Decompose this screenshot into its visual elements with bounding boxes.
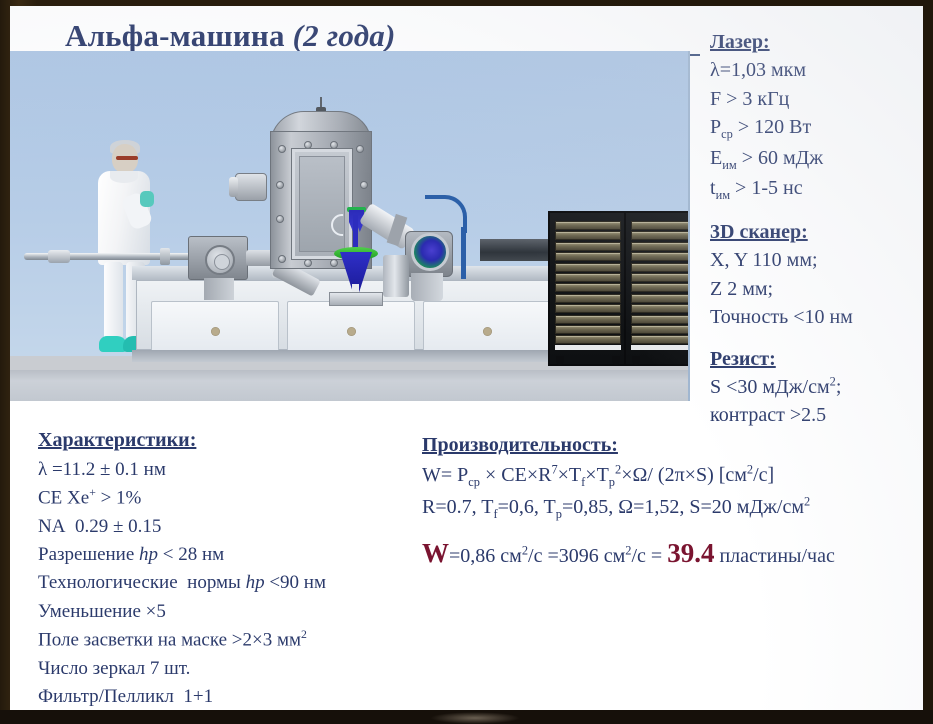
characteristics-row: Число зеркал 7 шт.	[38, 655, 418, 683]
transfer-rod-knob	[48, 250, 70, 263]
page-title: Альфа-машина (2 года)	[65, 18, 715, 54]
projector-frame: Альфа-машина (2 года)	[0, 0, 933, 724]
rack-shelf	[631, 273, 690, 282]
rack-shelf	[631, 304, 690, 313]
rack-shelf	[631, 263, 690, 272]
chamber-bolt	[356, 145, 364, 153]
chamber-bolt	[330, 141, 338, 149]
rack-caster	[632, 356, 640, 365]
render-floor	[10, 370, 688, 401]
characteristics-section: Характеристики: λ =11.2 ± 0.1 нм CE Xe+ …	[38, 426, 418, 710]
rack-shelf	[631, 335, 690, 344]
chamber-bolt	[360, 181, 368, 189]
bench-panel-knob	[211, 327, 220, 336]
characteristics-row: λ =11.2 ± 0.1 нм	[38, 456, 418, 484]
laser-spec-row: F > 3 кГц	[710, 85, 923, 113]
collector-lens	[411, 233, 449, 271]
characteristics-heading: Характеристики:	[38, 426, 418, 456]
rack-shelf	[631, 294, 690, 303]
rack-bottom-plate	[631, 345, 690, 350]
performance-section: Производительность: W= Pср × CE×R7×Tf×Tp…	[422, 430, 922, 574]
rack-caster	[612, 356, 620, 365]
rack-shelf	[631, 242, 690, 251]
rack-caster	[556, 356, 564, 365]
rack-shelf	[555, 252, 621, 261]
characteristics-row: Поле засветки на маске >2×3 мм2	[38, 626, 418, 655]
bench-panel-knob	[347, 327, 356, 336]
rack-bottom-plate	[555, 345, 621, 350]
wafer-stage	[329, 292, 383, 306]
collector-cylinder	[383, 255, 409, 297]
optics-collector-assembly	[365, 193, 485, 288]
laser-spec-row: Eим > 60 мДж	[710, 144, 923, 175]
collector-stand	[411, 273, 443, 301]
rack-shelf	[555, 231, 621, 240]
technician-collar	[110, 171, 138, 183]
rack-shelf	[555, 325, 621, 334]
resist-spec-row: S <30 мДж/см2;	[710, 373, 923, 401]
result-w-symbol: W	[422, 538, 449, 568]
resist-spec-group: Резист: S <30 мДж/см2; контраст >2.5	[710, 345, 923, 430]
resist-heading: Резист:	[710, 345, 776, 373]
specs-column: Лазер: λ=1,03 мкм F > 3 кГц Pср > 120 Вт…	[710, 28, 923, 443]
chamber-side-flange-rim	[229, 177, 238, 197]
performance-result: W=0,86 см2/с =3096 см2/с = 39.4 пластины…	[422, 533, 922, 574]
characteristics-row: Уменьшение ×5	[38, 598, 418, 626]
rack-shelf	[555, 283, 621, 292]
laser-heading: Лазер:	[710, 28, 770, 56]
chamber-bolt	[276, 181, 284, 189]
slide-canvas: Альфа-машина (2 года)	[10, 6, 923, 710]
valve-port-ring	[205, 245, 235, 275]
rack-shelf	[555, 273, 621, 282]
scanner-spec-row: Точность <10 нм	[710, 303, 923, 331]
performance-heading: Производительность:	[422, 430, 922, 460]
collector-cable-drop	[461, 227, 466, 279]
rack-shelf	[555, 242, 621, 251]
chamber-bolt	[276, 215, 284, 223]
chamber-viewport	[292, 149, 352, 259]
characteristics-row: Фильтр/Пелликл 1+1	[38, 683, 418, 710]
result-intermediate: =0,86 см2/с =3096 см2/с =	[449, 545, 667, 567]
result-throughput-unit: пластины/час	[719, 545, 834, 567]
valve-housing	[188, 236, 248, 280]
rack-shelf	[555, 294, 621, 303]
scanner-heading: 3D сканер:	[710, 218, 808, 246]
chamber-bolt	[278, 145, 286, 153]
electronics-rack	[548, 211, 626, 366]
gate-valve-assembly	[188, 236, 268, 300]
scanner-spec-group: 3D сканер: X, Y 110 мм; Z 2 мм; Точность…	[710, 218, 923, 332]
laser-spec-row: tим > 1-5 нс	[710, 174, 923, 205]
rack-shelf	[631, 221, 690, 230]
resist-spec-row: контраст >2.5	[710, 401, 923, 429]
performance-parameters: R=0.7, Tf=0,6, Tp=0,85, Ω=1,52, S=20 мДж…	[422, 492, 922, 524]
projector-bottom-band	[0, 710, 933, 724]
rack-shelf	[631, 325, 690, 334]
chamber-bolt	[304, 259, 312, 267]
vacuum-chamber	[262, 111, 380, 269]
title-years-text: (2 года)	[293, 18, 396, 53]
bench-panel-knob	[483, 327, 492, 336]
rack-shelf	[631, 315, 690, 324]
laser-spec-group: Лазер: λ=1,03 мкм F > 3 кГц Pср > 120 Вт…	[710, 28, 923, 205]
characteristics-row: Технологические нормы hp <90 нм	[38, 569, 418, 597]
chamber-bolt	[304, 141, 312, 149]
result-throughput-value: 39.4	[667, 538, 714, 568]
laser-spec-row: λ=1,03 мкм	[710, 56, 923, 84]
alpha-machine-render-image	[10, 51, 690, 401]
scanner-spec-row: Z 2 мм;	[710, 275, 923, 303]
rack-shelf	[555, 304, 621, 313]
rack-shelf	[555, 263, 621, 272]
characteristics-row: CE Xe+ > 1%	[38, 484, 418, 513]
technician-leg-left	[104, 262, 123, 340]
characteristics-row: NA 0.29 ± 0.15	[38, 513, 418, 541]
chamber-bolt	[278, 255, 286, 263]
rack-shelf	[631, 283, 690, 292]
rack-shelf	[631, 252, 690, 261]
bench-base	[132, 350, 570, 362]
technician-glasses	[116, 156, 138, 160]
chamber-bolt	[330, 259, 338, 267]
rack-caster	[688, 356, 690, 365]
rack-shelf	[555, 221, 621, 230]
rack-shelf	[631, 231, 690, 240]
transfer-rod-flange	[160, 248, 170, 265]
title-main-text: Альфа-машина	[65, 18, 285, 53]
scanner-spec-row: X, Y 110 мм;	[710, 246, 923, 274]
electronics-rack	[624, 211, 690, 366]
rack-shelf	[555, 335, 621, 344]
projector-glow	[430, 712, 520, 724]
chamber-viewport-inner	[299, 156, 345, 252]
rack-shelf	[555, 315, 621, 324]
laser-spec-row: Pср > 120 Вт	[710, 113, 923, 144]
technician-glove	[140, 191, 154, 207]
characteristics-row: Разрешение hp < 28 нм	[38, 541, 418, 569]
valve-support-leg	[204, 278, 234, 300]
target-feed-rod	[353, 215, 358, 251]
performance-formula: W= Pср × CE×R7×Tf×Tp2×Ω/ (2π×S) [см2/с]	[422, 460, 922, 492]
